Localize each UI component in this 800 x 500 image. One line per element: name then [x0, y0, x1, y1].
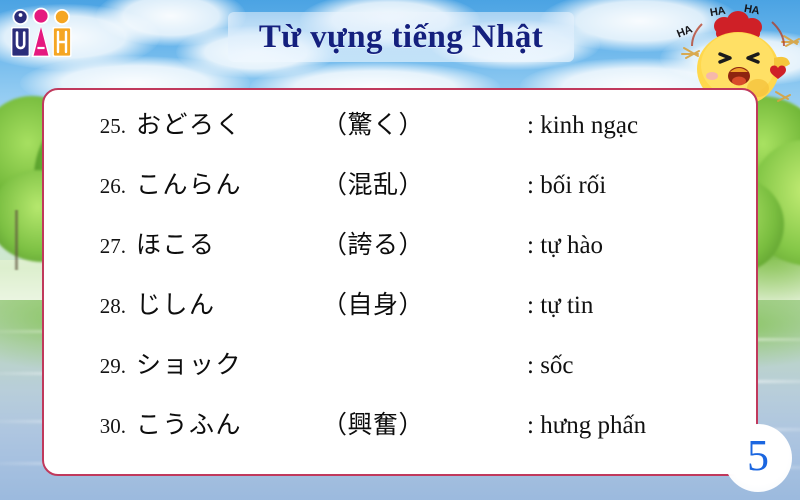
vocab-kanji: （興奮）: [322, 405, 527, 441]
vocab-meaning: : hưng phấn: [527, 412, 756, 440]
vocab-meaning: : tự tin: [527, 292, 756, 320]
vocabulary-card: 25. おどろく （驚く） : kinh ngạc 26. こんらん （混乱） …: [42, 88, 758, 476]
page-number-badge: 5: [724, 424, 792, 492]
vocab-kana: おどろく: [136, 105, 322, 141]
slide-title-box: Từ vựng tiếng Nhật: [228, 12, 574, 62]
vocab-row: 26. こんらん （混乱） : bối rối: [44, 165, 756, 223]
laugh-text: HA: [743, 3, 760, 17]
vocab-meaning: : tự hào: [527, 232, 756, 260]
vocabulary-list: 25. おどろく （驚く） : kinh ngạc 26. こんらん （混乱） …: [44, 90, 756, 474]
vocab-kana: ショック: [136, 345, 322, 381]
vocab-kana: ほこる: [136, 225, 322, 261]
page-title: Từ vựng tiếng Nhật: [259, 19, 543, 56]
vocab-row: 28. じしん （自身） : tự tin: [44, 285, 756, 343]
vocab-row: 27. ほこる （誇る） : tự hào: [44, 225, 756, 283]
vocab-number: 26.: [44, 174, 136, 199]
vocab-number: 25.: [44, 114, 136, 139]
vocab-row: 29. ショック : sốc: [44, 345, 756, 403]
vocab-number: 27.: [44, 234, 136, 259]
vocab-kanji: （誇る）: [322, 225, 527, 261]
page-number: 5: [747, 434, 769, 482]
slide-root: Từ vựng tiếng Nhật HA HA HA: [0, 0, 800, 500]
vocab-meaning: : kinh ngạc: [527, 112, 756, 140]
vocab-kana: こんらん: [136, 165, 322, 201]
vocab-number: 28.: [44, 294, 136, 319]
vocab-kanji: （自身）: [322, 285, 527, 321]
vocab-kanji: （驚く）: [322, 105, 527, 141]
vocab-number: 30.: [44, 414, 136, 439]
vocab-kana: こうふん: [136, 405, 322, 441]
vocab-row: 25. おどろく （驚く） : kinh ngạc: [44, 105, 756, 163]
vocab-number: 29.: [44, 354, 136, 379]
tree-trunk: [14, 210, 19, 270]
vocab-meaning: : sốc: [527, 352, 756, 380]
uah-logo: [8, 6, 74, 62]
vocab-kanji: （混乱）: [322, 165, 527, 201]
vocab-row: 30. こうふん （興奮） : hưng phấn: [44, 405, 756, 463]
vocab-meaning: : bối rối: [527, 172, 756, 200]
vocab-kana: じしん: [136, 285, 322, 321]
